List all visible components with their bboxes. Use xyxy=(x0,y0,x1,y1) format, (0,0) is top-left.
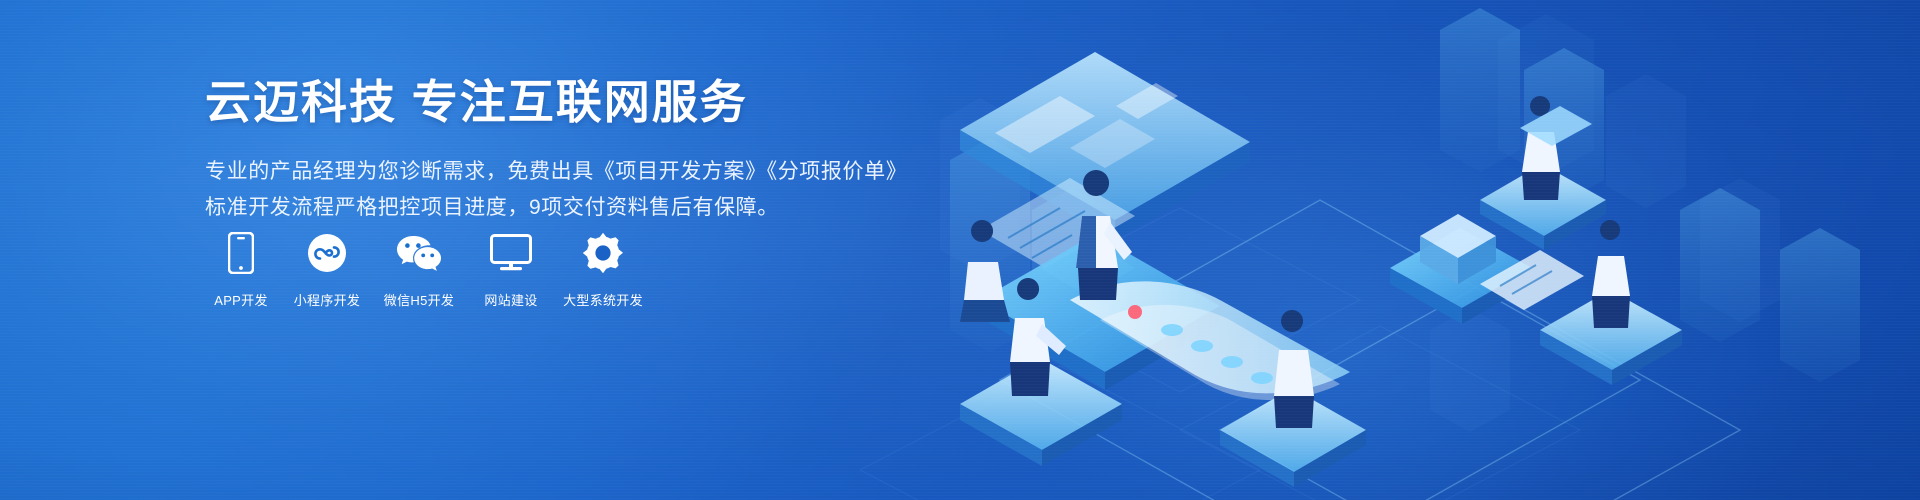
background-glow-right xyxy=(900,40,1800,500)
service-label: 大型系统开发 xyxy=(561,290,645,309)
page-title: 云迈科技 专注互联网服务 xyxy=(205,72,925,132)
subtitle-line-1: 专业的产品经理为您诊断需求，免费出具《项目开发方案》《分项报价单》 xyxy=(205,154,925,190)
service-item-app[interactable]: APP开发 xyxy=(205,230,277,309)
hero-subtitle: 专业的产品经理为您诊断需求，免费出具《项目开发方案》《分项报价单》 标准开发流程… xyxy=(205,154,925,226)
monitor-icon xyxy=(475,230,547,276)
service-label: APP开发 xyxy=(205,290,277,309)
service-item-website[interactable]: 网站建设 xyxy=(475,230,547,309)
wechat-icon xyxy=(377,230,461,276)
service-item-mini-program[interactable]: 小程序开发 xyxy=(291,230,363,309)
subtitle-line-2: 标准开发流程严格把控项目进度，9项交付资料售后有保障。 xyxy=(205,190,925,226)
hero-copy: 云迈科技 专注互联网服务 专业的产品经理为您诊断需求，免费出具《项目开发方案》《… xyxy=(205,72,925,226)
service-label: 网站建设 xyxy=(475,290,547,309)
service-label: 小程序开发 xyxy=(291,290,363,309)
service-item-wechat-h5[interactable]: 微信H5开发 xyxy=(377,230,461,309)
service-item-large-system[interactable]: 大型系统开发 xyxy=(561,230,645,309)
service-label: 微信H5开发 xyxy=(377,290,461,309)
hero-illustration xyxy=(920,0,1920,500)
mini-program-icon xyxy=(291,230,363,276)
service-list: APP开发 小程序开发 xyxy=(205,230,645,309)
hero-banner: 云迈科技 专注互联网服务 专业的产品经理为您诊断需求，免费出具《项目开发方案》《… xyxy=(0,0,1920,500)
mobile-phone-icon xyxy=(205,230,277,276)
gear-icon xyxy=(561,230,645,276)
